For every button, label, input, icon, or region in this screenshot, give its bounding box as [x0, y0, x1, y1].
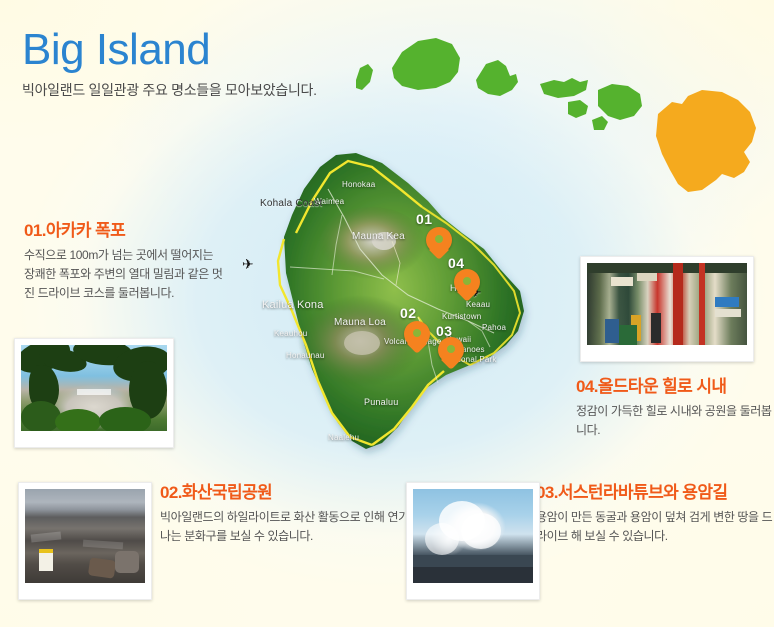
map-label-mauna-loa: Mauna Loa [334, 317, 386, 328]
spot-01-heading: 01.아카카 폭포 [24, 216, 224, 241]
volcanoes-park-photo-image [25, 489, 145, 583]
spot-block-03: 03.서스턴라바튜브와 용암길 용암이 만든 동굴과 용암이 덮쳐 검게 변한 … [536, 478, 774, 546]
akaka-falls-photo[interactable] [14, 338, 174, 448]
map-label-pahoa: Pahoa [482, 323, 506, 332]
volcanoes-park-photo[interactable] [18, 482, 152, 600]
spot-01-title: 아카카 폭포 [46, 221, 125, 240]
spot-03-title: 서스턴라바튜브와 용암길 [558, 483, 728, 502]
big-island-detail-map: Honokaa Waimea Kohala Coast Mauna Kea Ka… [232, 145, 534, 463]
map-label-naalehu: Naalehu [328, 433, 359, 442]
map-label-kohala-coast: Kohala Coast [260, 198, 320, 209]
page-title: Big Island [22, 26, 317, 74]
spot-03-heading: 03.서스턴라바튜브와 용암길 [536, 478, 774, 503]
mokuaweoweo-caldera [344, 331, 380, 355]
lanai-shape [568, 100, 588, 118]
page-root: Big Island 빅아일랜드 일일관광 주요 명소들을 모아보았습니다. B… [0, 0, 774, 627]
spot-01-number: 01. [24, 221, 46, 240]
spot-03-body: 용암이 만든 동굴과 용암이 덮쳐 검게 변한 땅을 드라이브 해 보실 수 있… [536, 508, 774, 546]
hilo-downtown-photo[interactable] [580, 256, 754, 362]
map-label-honaunau: Honaunau [286, 351, 325, 360]
spot-04-title: 올드타운 힐로 시내 [598, 377, 727, 396]
page-subtitle: 빅아일랜드 일일관광 주요 명소들을 모아보았습니다. [22, 80, 317, 100]
spot-02-body: 빅아일랜드의 하일라이트로 화산 활동으로 인해 연기가 나는 분화구를 보실 … [160, 508, 430, 546]
map-label-keauhou: Keauhou [274, 329, 307, 338]
page-header: Big Island 빅아일랜드 일일관광 주요 명소들을 모아보았습니다. [22, 26, 317, 100]
hilo-downtown-photo-image [587, 263, 747, 345]
akaka-falls-photo-image [21, 345, 167, 431]
big-island-shape [656, 90, 756, 192]
hilo-town-pin[interactable] [454, 269, 480, 303]
spot-block-04: 04.올드타운 힐로 시내 정감이 가득한 힐로 시내와 공원을 둘러봅니다. [576, 372, 774, 440]
spot-04-body: 정감이 가득한 힐로 시내와 공원을 둘러봅니다. [576, 402, 774, 440]
kauai-shape [392, 38, 460, 90]
spot-04-number: 04. [576, 377, 598, 396]
airplane-icon: ✈ [242, 257, 254, 271]
lava-tube-photo[interactable] [406, 482, 540, 600]
niihau-shape [356, 64, 373, 90]
pin-label-02: 02 [400, 305, 417, 321]
spot-01-body: 수직으로 100m가 넘는 곳에서 떨어지는 장쾌한 폭포와 주변의 열대 밀림… [24, 246, 224, 303]
spot-02-number: 02. [160, 483, 182, 502]
map-label-kurtistown: Kurtistown [442, 312, 481, 321]
spot-block-02: 02.화산국립공원 빅아일랜드의 하일라이트로 화산 활동으로 인해 연기가 나… [160, 478, 430, 546]
molokai-shape [540, 78, 588, 98]
volcanoes-park-pin[interactable] [404, 321, 430, 355]
map-label-honokaa: Honokaa [342, 180, 375, 189]
spot-02-title: 화산국립공원 [182, 483, 272, 502]
oahu-shape [476, 60, 518, 96]
maui-shape [598, 84, 642, 120]
mauna-kea-summit [318, 207, 426, 283]
lava-tube-pin[interactable] [438, 337, 464, 371]
kahoolawe-shape [592, 116, 608, 130]
spot-block-01: 01.아카카 폭포 수직으로 100m가 넘는 곳에서 떨어지는 장쾌한 폭포와… [24, 216, 224, 303]
map-label-kailua-kona: Kailua Kona [262, 299, 324, 311]
spot-02-heading: 02.화산국립공원 [160, 478, 430, 503]
lava-tube-photo-image [413, 489, 533, 583]
pin-label-01: 01 [416, 211, 433, 227]
map-label-mauna-kea: Mauna Kea [352, 231, 405, 242]
map-label-punaluu: Punaluu [364, 397, 398, 407]
spot-04-heading: 04.올드타운 힐로 시내 [576, 372, 774, 397]
